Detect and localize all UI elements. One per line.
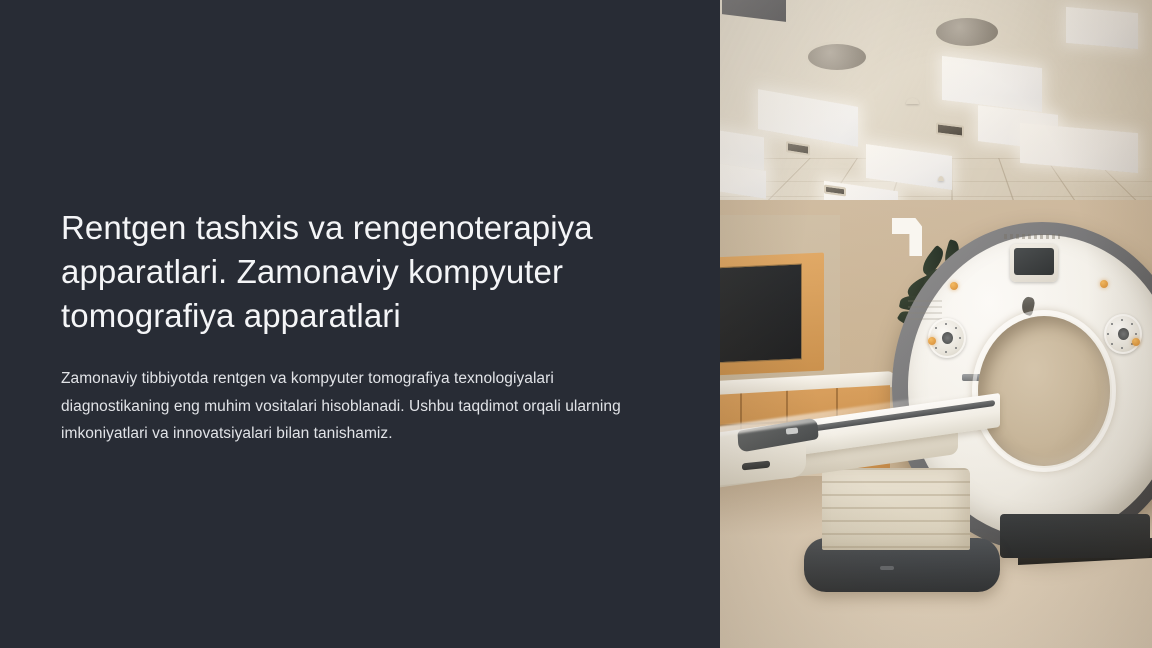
gantry-base [1000, 514, 1150, 558]
table-base-marking [880, 566, 894, 570]
slide-subtitle: Zamonaviy tibbiyotda rentgen va kompyute… [61, 365, 639, 448]
dial-tick [955, 327, 957, 329]
dial-tick [955, 347, 957, 349]
slide-title: Rentgen tashxis va rengenoterapiya appar… [61, 206, 631, 338]
gantry-indicator-led [928, 337, 936, 345]
gantry-indicator-led [1132, 338, 1140, 346]
dial-core [942, 332, 953, 344]
slide-image-panel [720, 0, 1152, 648]
ceiling-shading [720, 0, 1152, 232]
presentation-slide: Rentgen tashxis va rengenoterapiya appar… [0, 0, 1152, 648]
dial-tick [1131, 323, 1133, 325]
wall-monitor [720, 253, 824, 376]
slide-text-panel: Rentgen tashxis va rengenoterapiya appar… [0, 0, 720, 648]
gantry-indicator-led [1100, 280, 1108, 288]
dial-tick [959, 337, 961, 339]
dial-tick [935, 327, 937, 329]
dial-core [1118, 328, 1129, 340]
dial-tick [1111, 343, 1113, 345]
gantry-bore [978, 316, 1110, 466]
dial-tick [1121, 347, 1123, 349]
gantry-brand-label [1004, 234, 1060, 239]
gantry-indicator-led [950, 282, 958, 290]
dial-tick [945, 323, 947, 325]
dial-tick [1107, 333, 1109, 335]
table-column [822, 468, 970, 550]
dial-tick [1111, 323, 1113, 325]
gantry-control-dial-right[interactable] [1104, 314, 1142, 354]
dial-tick [945, 351, 947, 353]
ceiling [720, 0, 1152, 232]
radiology-room-photo [720, 0, 1152, 648]
gantry-display [1010, 244, 1058, 282]
text-block: Rentgen tashxis va rengenoterapiya appar… [61, 206, 641, 448]
dial-tick [935, 347, 937, 349]
monitor-screen [720, 264, 802, 364]
table-pad-clip [786, 427, 799, 434]
gantry-display-screen [1014, 248, 1054, 275]
dial-tick [1135, 333, 1137, 335]
dial-tick [1121, 319, 1123, 321]
